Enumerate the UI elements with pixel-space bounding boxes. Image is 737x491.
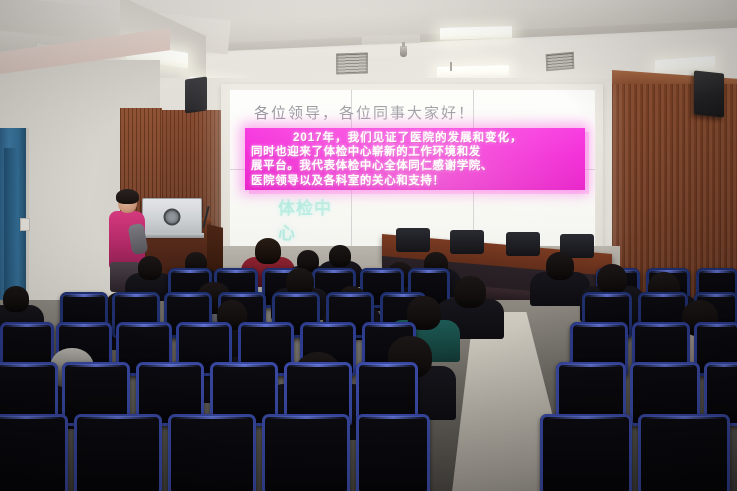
audience-seat[interactable]	[74, 414, 162, 491]
seat-frame-highlight	[315, 270, 354, 273]
seat-frame-highlight	[303, 324, 352, 327]
audience-member-head	[454, 276, 486, 308]
seat-frame-highlight	[119, 324, 168, 327]
auditorium-presentation-photo: 各位领导，各位同事大家好！ 2017年，我们见证了医院的发展和变化， 同时也迎来…	[0, 0, 737, 491]
seat-frame-highlight	[267, 416, 344, 419]
seat-frame-highlight	[115, 294, 157, 297]
seat-frame-highlight	[0, 364, 54, 367]
seat-frame-highlight	[173, 416, 250, 419]
seat-frame-highlight	[641, 294, 685, 297]
presentation-video-wall[interactable]: 各位领导，各位同事大家好！ 2017年，我们见证了医院的发展和变化， 同时也迎来…	[230, 90, 595, 248]
audience-member-head	[329, 245, 351, 267]
audience-seat[interactable]	[168, 414, 256, 491]
presenter-laptop[interactable]	[142, 198, 202, 236]
seat-frame-highlight	[585, 294, 629, 297]
seat-frame-highlight	[217, 270, 256, 273]
seat-frame-highlight	[167, 294, 209, 297]
audience-seat[interactable]	[540, 414, 632, 491]
audience-member-head	[546, 252, 574, 280]
slide-banner-line: 展平台。我代表体检中心全体同仁感谢学院、	[251, 159, 581, 173]
slide-greeting-line: 各位领导，各位同事大家好！	[254, 102, 475, 123]
seat-frame-highlight	[221, 294, 263, 297]
head-table-chair	[396, 228, 430, 252]
slide-banner-line: 医院领导以及各科室的关心和支持！	[251, 174, 581, 188]
seat-frame-highlight	[546, 416, 627, 419]
seat-frame-highlight	[140, 364, 200, 367]
seat-frame-highlight	[171, 270, 210, 273]
audience-seat[interactable]	[356, 414, 430, 491]
air-vent-grille	[546, 52, 575, 71]
seat-frame-highlight	[697, 294, 736, 297]
seat-frame-highlight	[635, 324, 686, 327]
slide-year-label: 2017年，我们见证了医院的发展和变化，	[293, 132, 523, 144]
audience-seat[interactable]	[262, 414, 350, 491]
wall-speaker-icon	[694, 70, 724, 117]
seat-frame-highlight	[329, 294, 371, 297]
air-vent-grille	[336, 52, 368, 74]
seat-frame-highlight	[79, 416, 156, 419]
slide-banner-line: 同时也迎来了体检中心崭新的工作环境和发	[251, 145, 581, 159]
seat-frame-highlight	[288, 364, 348, 367]
hp-logo-icon	[164, 209, 181, 226]
seat-frame-highlight	[363, 270, 402, 273]
ceiling-light-panel	[437, 65, 509, 78]
seat-frame-highlight	[179, 324, 228, 327]
seat-frame-highlight	[360, 416, 425, 419]
seat-frame-highlight	[699, 270, 736, 273]
head-table-chair	[450, 230, 484, 254]
seat-frame-highlight	[360, 364, 415, 367]
seat-frame-highlight	[59, 324, 108, 327]
light-switch[interactable]	[20, 218, 30, 231]
head-table-chair	[506, 232, 540, 256]
seat-frame-highlight	[706, 364, 737, 367]
seat-frame-highlight	[63, 294, 105, 297]
ceiling-light-panel	[440, 26, 512, 40]
seat-frame-highlight	[365, 324, 413, 327]
audience-member-head	[255, 238, 281, 264]
seat-frame-highlight	[560, 364, 622, 367]
seat-frame-highlight	[697, 324, 737, 327]
audience-member-head	[3, 286, 29, 312]
sprinkler-head	[400, 46, 407, 57]
seat-frame-highlight	[275, 294, 317, 297]
wall-speaker-icon	[185, 76, 207, 113]
slide-logo-watermark: 体检中心	[278, 194, 340, 220]
audience-member-head	[138, 256, 162, 280]
audience-member-head	[597, 264, 627, 294]
seat-frame-highlight	[644, 416, 725, 419]
seat-frame-highlight	[411, 270, 448, 273]
seat-frame-highlight	[3, 324, 51, 327]
seat-frame-highlight	[0, 416, 63, 419]
slide-highlight-banner: 2017年，我们见证了医院的发展和变化， 同时也迎来了体检中心崭新的工作环境和发…	[245, 128, 585, 190]
presenter-hair	[116, 189, 139, 204]
ceiling-projector-mount	[450, 62, 452, 71]
seat-frame-highlight	[66, 364, 126, 367]
seat-frame-highlight	[634, 364, 696, 367]
seat-frame-highlight	[214, 364, 274, 367]
seat-frame-highlight	[573, 324, 624, 327]
slide-banner-body: 2017年，我们见证了医院的发展和变化， 同时也迎来了体检中心崭新的工作环境和发…	[251, 131, 581, 188]
audience-seat[interactable]	[0, 414, 68, 491]
seat-frame-highlight	[241, 324, 290, 327]
audience-seat[interactable]	[638, 414, 730, 491]
